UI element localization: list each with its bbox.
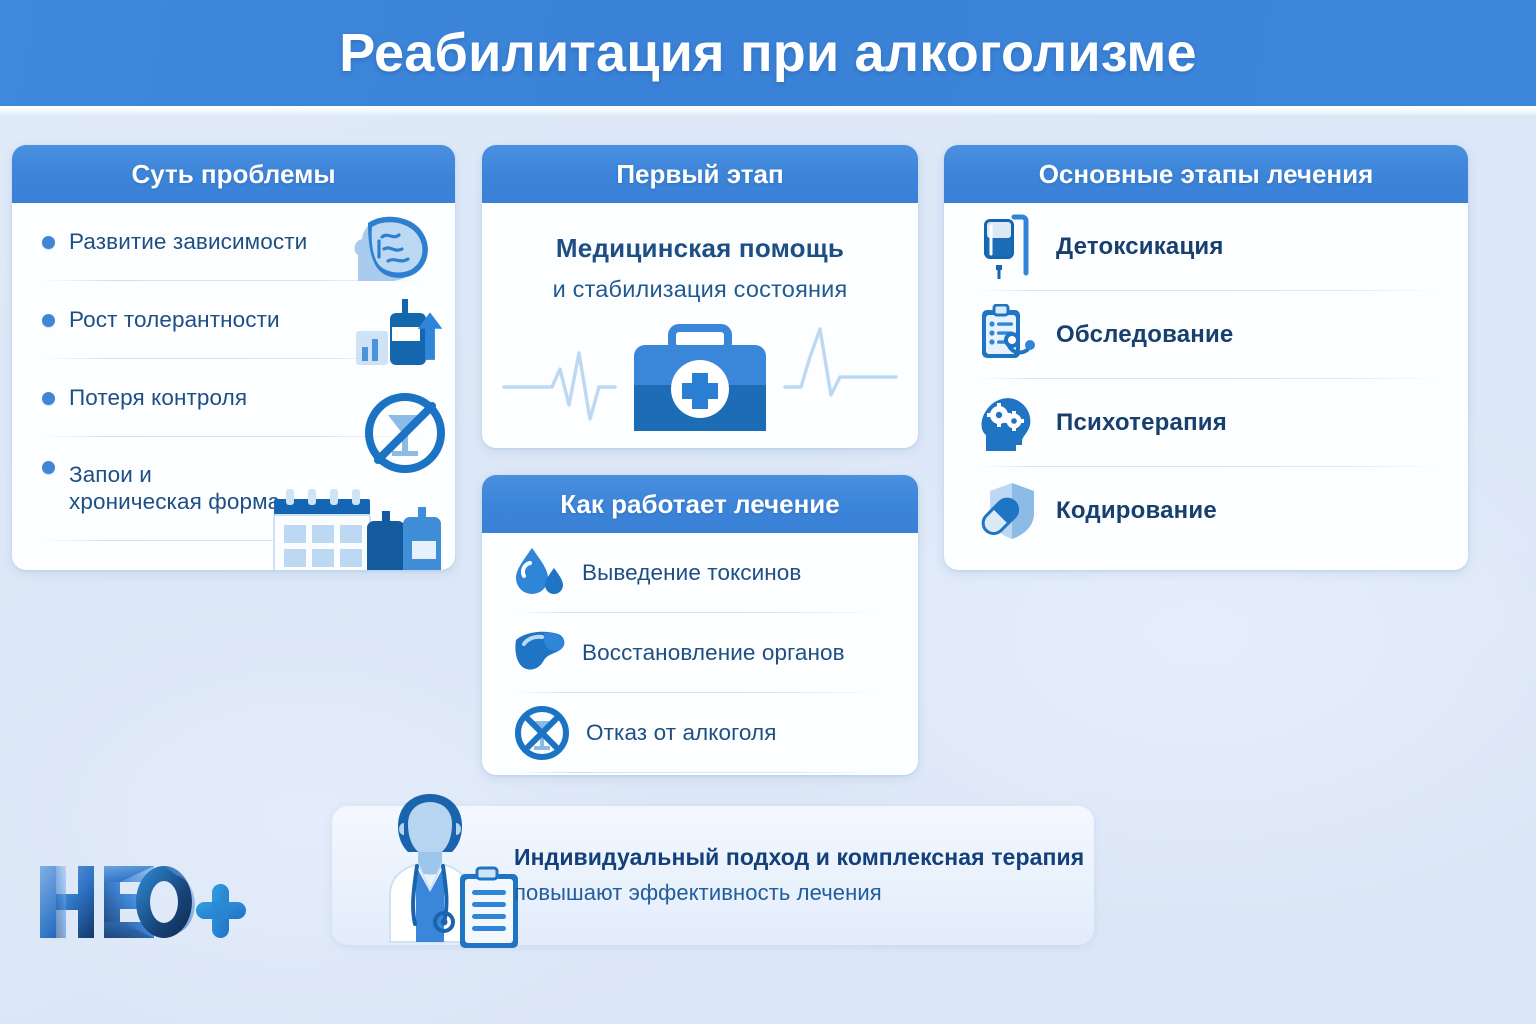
first-aid-illustration [482, 319, 918, 439]
problem-item-3-label: Потеря контроля [69, 385, 247, 412]
stage-item-4-label: Кодирование [1056, 497, 1217, 525]
how-item-2[interactable]: Восстановление органов [482, 613, 918, 693]
stage-item-2[interactable]: Обследование [944, 291, 1468, 379]
problem-item-4-label: Запои и хроническая форма [69, 462, 280, 515]
stage-item-1[interactable]: Детоксикация [944, 203, 1468, 291]
doctor-clipboard-icon [360, 790, 532, 948]
stage-item-2-label: Обследование [1056, 321, 1233, 349]
heo-plus-logo-icon [36, 862, 256, 946]
page-banner: Реабилитация при алкоголизме [0, 0, 1536, 106]
brand-logo[interactable] [36, 862, 256, 951]
first-stage-text: Медицинская помощь и стабилизация состоя… [482, 203, 918, 303]
card-how-it-works: Как работает лечение Выведение токсинов [482, 475, 918, 775]
stage-item-4[interactable]: Кодирование [944, 467, 1468, 555]
how-item-1-label: Выведение токсинов [582, 560, 801, 586]
liver-icon [514, 630, 566, 676]
bullet-dot-icon [42, 314, 55, 327]
footer-line1: Индивидуальный подход и комплексная тера… [514, 844, 1084, 871]
first-aid-kit-heartbeat-icon [500, 323, 900, 435]
iv-drip-icon [978, 213, 1036, 281]
how-item-3[interactable]: Отказ от алкоголя [482, 693, 918, 773]
problem-item-2-label: Рост толерантности [69, 307, 280, 334]
problem-item-4-line1: Запои и [69, 462, 280, 489]
first-stage-line2: и стабилизация состояния [482, 276, 918, 303]
card-main-stages-body: Детоксикация [944, 203, 1468, 570]
card-first-stage-header: Первый этап [482, 145, 918, 203]
stage-item-3-label: Психотерапия [1056, 409, 1227, 437]
card-problem-body: Развитие зависимости Рост толерантности … [12, 203, 455, 570]
problem-item-2[interactable]: Рост толерантности [12, 281, 455, 359]
stage-item-1-label: Детоксикация [1056, 233, 1224, 261]
bullet-dot-icon [42, 236, 55, 249]
infographic-page: Реабилитация при алкоголизме Суть пробле… [0, 0, 1536, 1024]
card-problem: Суть проблемы Развитие зависимости Рост … [12, 145, 455, 570]
bullet-dot-icon [42, 461, 55, 474]
how-item-1[interactable]: Выведение токсинов [482, 533, 918, 613]
bullet-dot-icon [42, 392, 55, 405]
card-first-stage-title: Первый этап [616, 159, 783, 190]
problem-item-4-line2: хроническая форма [69, 489, 280, 516]
problem-item-1[interactable]: Развитие зависимости [12, 203, 455, 281]
how-item-2-label: Восстановление органов [582, 640, 845, 666]
first-stage-line1: Медицинская помощь [482, 233, 918, 264]
banner-bottom-edge [0, 106, 1536, 115]
card-main-stages: Основные этапы лечения Детоксикация [944, 145, 1468, 570]
how-item-3-label: Отказ от алкоголя [586, 720, 777, 746]
footer-highlight-banner: Индивидуальный подход и комплексная тера… [332, 806, 1094, 945]
card-first-stage: Первый этап Медицинская помощь и стабили… [482, 145, 918, 448]
pill-shield-icon [978, 480, 1036, 542]
head-gears-icon [978, 393, 1036, 453]
water-drop-icon [514, 546, 566, 600]
page-title: Реабилитация при алкоголизме [339, 22, 1197, 84]
footer-line2: повышают эффективность лечения [514, 880, 1084, 906]
no-alcohol-icon [514, 705, 570, 761]
card-how-it-works-body: Выведение токсинов Восстановление органо… [482, 533, 918, 775]
problem-item-3[interactable]: Потеря контроля [12, 359, 455, 437]
stage-item-3[interactable]: Психотерапия [944, 379, 1468, 467]
row-divider [516, 772, 882, 773]
card-problem-header: Суть проблемы [12, 145, 455, 203]
problem-item-1-label: Развитие зависимости [69, 229, 307, 256]
doctor-illustration [360, 790, 532, 953]
card-problem-title: Суть проблемы [131, 159, 335, 190]
card-first-stage-body: Медицинская помощь и стабилизация состоя… [482, 203, 918, 448]
card-main-stages-title: Основные этапы лечения [1039, 159, 1374, 190]
row-divider [40, 540, 429, 541]
card-how-it-works-header: Как работает лечение [482, 475, 918, 533]
clipboard-stethoscope-icon [978, 304, 1036, 366]
card-main-stages-header: Основные этапы лечения [944, 145, 1468, 203]
card-how-it-works-title: Как работает лечение [560, 489, 839, 520]
footer-text-block: Индивидуальный подход и комплексная тера… [514, 844, 1084, 906]
problem-item-4[interactable]: Запои и хроническая форма [12, 437, 455, 541]
